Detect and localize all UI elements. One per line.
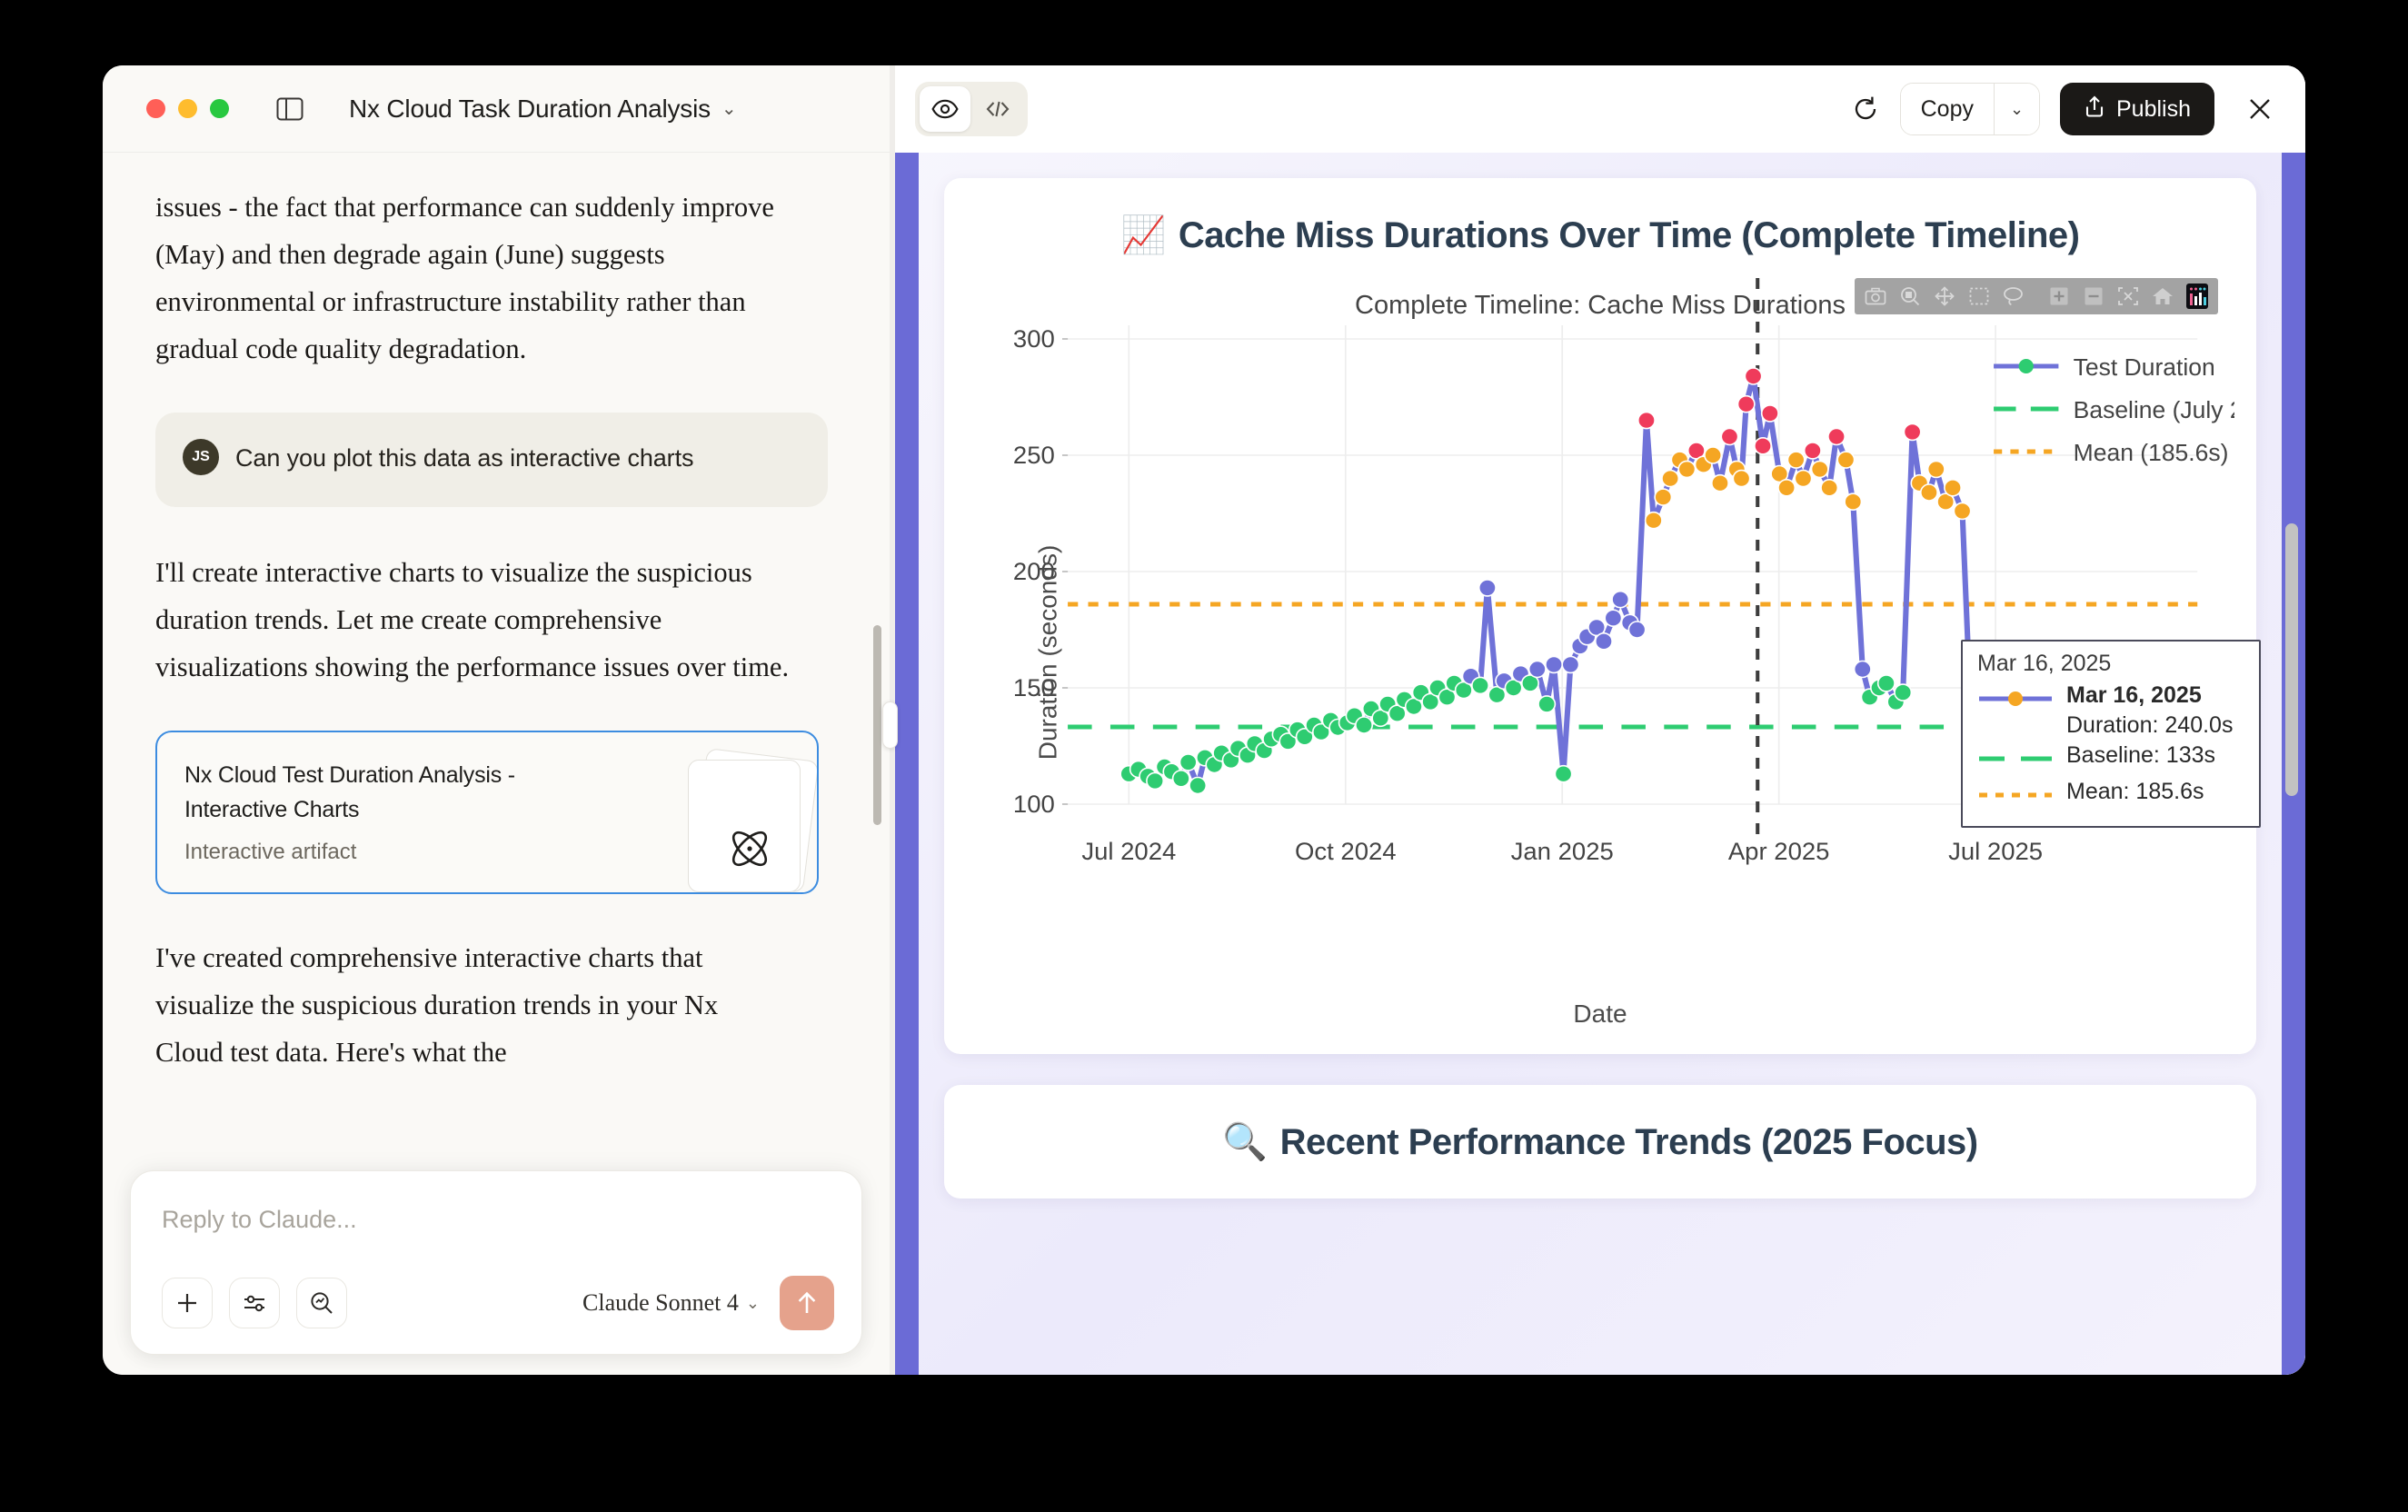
data-point[interactable] xyxy=(1479,580,1496,596)
assistant-message-2: I'll create interactive charts to visual… xyxy=(155,549,791,691)
data-point[interactable] xyxy=(1472,678,1488,694)
chart2-heading-text: Recent Performance Trends (2025 Focus) xyxy=(1280,1122,1978,1162)
publish-button[interactable]: Publish xyxy=(2060,83,2214,135)
data-point[interactable] xyxy=(1356,717,1372,733)
chat-titlebar: Nx Cloud Task Duration Analysis ⌄ xyxy=(103,65,890,153)
data-point[interactable] xyxy=(1845,494,1861,511)
tooltip-row-mean: Mean: 185.6s xyxy=(1977,777,2244,813)
plotly-modebar xyxy=(1855,278,2218,314)
data-point[interactable] xyxy=(1638,413,1655,429)
window-traffic-lights[interactable] xyxy=(146,99,229,118)
atom-icon xyxy=(726,825,773,882)
data-point[interactable] xyxy=(1733,471,1749,487)
pane-resize-handle[interactable] xyxy=(882,701,898,749)
data-point[interactable] xyxy=(1662,471,1678,487)
close-artifact-button[interactable] xyxy=(2240,89,2280,129)
plotly-logo-icon[interactable] xyxy=(2180,281,2214,312)
copy-button-group: Copy ⌄ xyxy=(1900,83,2040,135)
camera-icon[interactable] xyxy=(1858,281,1893,312)
model-selector[interactable]: Claude Sonnet 4 ⌄ xyxy=(582,1289,760,1317)
model-name: Claude Sonnet 4 xyxy=(582,1289,739,1317)
x-axis-title: Date xyxy=(966,1000,2234,1029)
data-point[interactable] xyxy=(1954,503,1970,520)
artifact-left-accent-bar xyxy=(895,153,919,1375)
avatar: JS xyxy=(183,439,219,475)
data-point[interactable] xyxy=(1895,684,1911,701)
data-point[interactable] xyxy=(1921,484,1937,501)
composer-left-actions xyxy=(162,1278,347,1328)
chart-card-timeline: 📈Cache Miss Durations Over Time (Complet… xyxy=(944,178,2256,1054)
app-window: Nx Cloud Task Duration Analysis ⌄ issues… xyxy=(103,65,2305,1375)
tools-settings-button[interactable] xyxy=(229,1278,280,1328)
tooltip-baseline-value: Baseline: 133s xyxy=(2066,741,2215,771)
hover-tooltip: Mar 16, 2025 Mar 16, 2025 Duration: 240.… xyxy=(1961,640,2261,828)
plotly-chart-timeline[interactable]: Complete Timeline: Cache Miss Durations xyxy=(966,271,2234,1034)
publish-label: Publish xyxy=(2116,96,2191,123)
svg-text:Baseline (July 2024): Baseline (July 2024) xyxy=(2074,397,2234,424)
copy-button[interactable]: Copy xyxy=(1901,84,1994,134)
reply-input[interactable]: Reply to Claude... xyxy=(162,1199,834,1276)
data-point[interactable] xyxy=(1745,368,1761,384)
assistant-message-3: I've created comprehensive interactive c… xyxy=(155,934,791,1076)
chevron-down-icon: ⌄ xyxy=(746,1294,760,1313)
data-point[interactable] xyxy=(1778,480,1795,496)
tooltip-mean-value: Mean: 185.6s xyxy=(2066,777,2204,807)
chart-increasing-icon: 📈 xyxy=(1121,215,1166,255)
data-point[interactable] xyxy=(1738,396,1755,413)
share-icon xyxy=(2084,94,2105,124)
composer-right-actions: Claude Sonnet 4 ⌄ xyxy=(582,1276,834,1330)
copy-options-chevron-icon[interactable]: ⌄ xyxy=(1994,84,2039,134)
zoom-in-icon[interactable] xyxy=(2042,281,2076,312)
svg-text:Oct 2024: Oct 2024 xyxy=(1295,838,1397,866)
data-point[interactable] xyxy=(1878,675,1895,691)
tooltip-duration-text: Mar 16, 2025 Duration: 240.0s xyxy=(2066,681,2233,741)
page-title: Nx Cloud Task Duration Analysis xyxy=(349,94,711,124)
data-point[interactable] xyxy=(1612,592,1628,608)
data-point[interactable] xyxy=(1945,480,1961,496)
box-select-icon[interactable] xyxy=(1962,281,1996,312)
svg-text:Jan 2025: Jan 2025 xyxy=(1511,838,1614,866)
autoscale-icon[interactable] xyxy=(2111,281,2145,312)
artifact-pane: Copy ⌄ Publish xyxy=(895,65,2305,1375)
svg-text:Jul 2025: Jul 2025 xyxy=(1948,838,2043,866)
data-point[interactable] xyxy=(1605,611,1621,627)
add-attachment-button[interactable] xyxy=(162,1278,213,1328)
minimize-window-button[interactable] xyxy=(178,99,197,118)
zoom-icon[interactable] xyxy=(1893,281,1927,312)
data-point[interactable] xyxy=(1812,462,1828,478)
tooltip-duration-value: Duration: 240.0s xyxy=(2066,711,2233,741)
svg-text:100: 100 xyxy=(1013,791,1055,819)
chevron-down-icon[interactable]: ⌄ xyxy=(721,97,737,120)
data-point[interactable] xyxy=(1529,661,1546,678)
refresh-icon[interactable] xyxy=(1851,94,1880,124)
tooltip-header: Mar 16, 2025 xyxy=(1977,651,2244,677)
data-point[interactable] xyxy=(1721,429,1737,445)
tooltip-duration-swatch xyxy=(1977,690,2054,717)
chart1-heading-text: Cache Miss Durations Over Time (Complete… xyxy=(1179,215,2080,255)
artifact-card-subtitle: Interactive artifact xyxy=(184,840,602,865)
data-point[interactable] xyxy=(1628,622,1645,638)
chart2-heading: 🔍Recent Performance Trends (2025 Focus) xyxy=(966,1119,2234,1165)
data-point[interactable] xyxy=(1855,661,1871,678)
tooltip-point-date: Mar 16, 2025 xyxy=(2066,681,2233,711)
reset-axes-home-icon[interactable] xyxy=(2145,281,2180,312)
data-point[interactable] xyxy=(1828,429,1845,445)
data-point[interactable] xyxy=(1562,657,1578,673)
magnifying-glass-icon: 🔍 xyxy=(1222,1122,1267,1162)
data-point[interactable] xyxy=(1173,771,1189,787)
sidebar-toggle-icon[interactable] xyxy=(274,94,305,124)
artifact-toolbar: Copy ⌄ Publish xyxy=(895,65,2305,153)
svg-text:Test Duration: Test Duration xyxy=(2074,354,2215,382)
assistant-message-1: issues - the fact that performance can s… xyxy=(155,184,791,373)
svg-text:Apr 2025: Apr 2025 xyxy=(1728,838,1830,866)
data-point[interactable] xyxy=(1555,766,1571,782)
data-point[interactable] xyxy=(1821,480,1837,496)
test-duration-line xyxy=(1129,376,1985,786)
view-mode-toggle xyxy=(915,82,1028,136)
data-point[interactable] xyxy=(1147,773,1163,790)
data-point[interactable] xyxy=(1655,489,1671,505)
data-point[interactable] xyxy=(1928,462,1945,478)
artifact-scrollbar[interactable] xyxy=(2285,523,2298,796)
user-message-text: Can you plot this data as interactive ch… xyxy=(235,436,693,480)
data-point[interactable] xyxy=(1189,778,1206,794)
data-point[interactable] xyxy=(1546,657,1562,673)
message-composer: Reply to Claude... xyxy=(130,1170,862,1355)
data-point[interactable] xyxy=(1538,696,1555,712)
data-point[interactable] xyxy=(1179,754,1196,771)
y-axis-title: Duration (seconds) xyxy=(1033,545,1062,761)
data-point[interactable] xyxy=(1646,512,1662,529)
artifact-preview-frame[interactable]: 📈Cache Miss Durations Over Time (Complet… xyxy=(895,153,2305,1375)
chart-legend: Test Duration Baseline (July 2024) Mean … xyxy=(1994,354,2234,467)
chat-pane: Nx Cloud Task Duration Analysis ⌄ issues… xyxy=(103,65,890,1375)
data-point[interactable] xyxy=(1904,424,1920,441)
tooltip-row-duration: Mar 16, 2025 Duration: 240.0s xyxy=(1977,681,2244,741)
toolbar-actions: Copy ⌄ Publish xyxy=(1851,83,2280,135)
chart-card-recent: 🔍Recent Performance Trends (2025 Focus) xyxy=(944,1085,2256,1198)
conversation-scrollbar[interactable] xyxy=(873,625,881,825)
data-point[interactable] xyxy=(1596,633,1612,650)
data-point[interactable] xyxy=(1795,471,1811,487)
test-duration-series xyxy=(1120,368,1995,794)
pan-icon[interactable] xyxy=(1927,281,1962,312)
research-search-button[interactable] xyxy=(296,1278,347,1328)
tab-preview[interactable] xyxy=(920,86,970,132)
data-point[interactable] xyxy=(1712,475,1728,492)
svg-text:Mean (185.6s): Mean (185.6s) xyxy=(2074,440,2229,467)
send-button[interactable] xyxy=(780,1276,834,1330)
artifact-card-text: Nx Cloud Test Duration Analysis - Intera… xyxy=(184,758,613,865)
zoom-out-icon[interactable] xyxy=(2076,281,2111,312)
svg-text:Jul 2024: Jul 2024 xyxy=(1081,838,1176,866)
close-window-button[interactable] xyxy=(146,99,165,118)
data-point[interactable] xyxy=(1805,443,1821,459)
data-point[interactable] xyxy=(1762,405,1778,422)
composer-controls: Claude Sonnet 4 ⌄ xyxy=(162,1276,834,1330)
tooltip-baseline-swatch xyxy=(1977,750,2054,777)
user-message-bubble: JS Can you plot this data as interactive… xyxy=(155,413,828,507)
lasso-select-icon[interactable] xyxy=(1996,281,2031,312)
artifact-card[interactable]: Nx Cloud Test Duration Analysis - Intera… xyxy=(155,731,819,894)
data-point[interactable] xyxy=(1837,452,1854,468)
tooltip-row-baseline: Baseline: 133s xyxy=(1977,741,2244,777)
data-point[interactable] xyxy=(1705,447,1721,463)
chart1-heading: 📈Cache Miss Durations Over Time (Complet… xyxy=(966,213,2234,258)
tooltip-mean-swatch xyxy=(1977,786,2054,813)
svg-text:300: 300 xyxy=(1013,325,1055,353)
artifact-card-title: Nx Cloud Test Duration Analysis - Intera… xyxy=(184,758,602,827)
tab-code[interactable] xyxy=(972,86,1023,132)
data-point[interactable] xyxy=(1755,438,1771,454)
data-point[interactable] xyxy=(1678,462,1695,478)
maximize-window-button[interactable] xyxy=(210,99,229,118)
artifact-thumbnail xyxy=(681,758,817,865)
data-point[interactable] xyxy=(1787,452,1804,468)
svg-text:250: 250 xyxy=(1013,442,1055,470)
